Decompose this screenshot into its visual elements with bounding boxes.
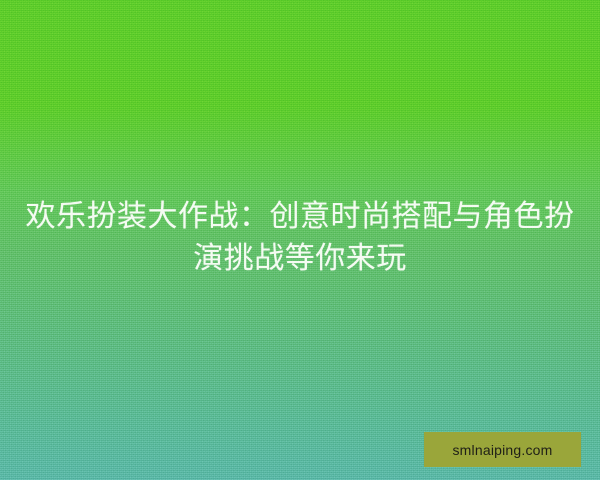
headline-text: 欢乐扮装大作战：创意时尚搭配与角色扮 演挑战等你来玩 — [0, 196, 600, 280]
watermark-badge: smlnaiping.com — [424, 432, 581, 467]
promo-image-card: 欢乐扮装大作战：创意时尚搭配与角色扮 演挑战等你来玩 smlnaiping.co… — [0, 0, 600, 480]
watermark-label: smlnaiping.com — [452, 443, 552, 457]
